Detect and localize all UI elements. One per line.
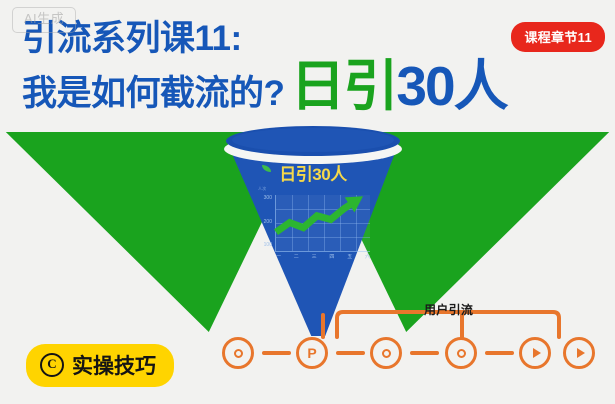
chapter-badge: 课程章节11 bbox=[511, 22, 605, 52]
mini-chart: 人次 300 200 100 一 二 三 四 五 bbox=[256, 188, 378, 274]
flow-node-p[interactable]: P bbox=[296, 337, 328, 369]
target-icon bbox=[382, 349, 391, 358]
flow-node-play-2[interactable] bbox=[563, 337, 595, 369]
headline-highlight-blue: 30人 bbox=[396, 60, 506, 112]
letter-p-icon: P bbox=[307, 346, 316, 360]
headline-highlight-green: 日引 bbox=[290, 60, 396, 112]
growth-arrow-icon bbox=[270, 188, 378, 262]
mini-chart-title: 人次 bbox=[258, 186, 267, 192]
flow-node-target-1[interactable] bbox=[222, 337, 254, 369]
copyright-icon: C bbox=[40, 353, 64, 377]
flow-label: 用户引流 bbox=[424, 301, 473, 318]
headline-line-2: 我是如何截流的? 日引 30人 bbox=[22, 60, 507, 120]
poster-canvas: AI生成 引流系列课11: 我是如何截流的? 日引 30人 课程章节11 日引3… bbox=[0, 0, 615, 404]
play-icon bbox=[577, 348, 585, 358]
flow-node-target-2[interactable] bbox=[370, 337, 402, 369]
funnel-label: 日引30人 bbox=[218, 160, 408, 185]
target-icon bbox=[234, 349, 243, 358]
flow-node-play-1[interactable] bbox=[519, 337, 551, 369]
skill-badge-label: 实操技巧 bbox=[72, 350, 156, 380]
headline-question: 我是如何截流的? bbox=[22, 68, 284, 120]
flow-connector-dash bbox=[336, 351, 365, 355]
headline-line-1: 引流系列课11: bbox=[22, 18, 507, 60]
play-icon bbox=[533, 348, 541, 358]
skill-badge: C 实操技巧 bbox=[26, 344, 174, 387]
flow-connector-dash bbox=[410, 351, 439, 355]
target-icon bbox=[457, 349, 466, 358]
flow-connector-dash bbox=[262, 351, 291, 355]
funnel-top-highlight bbox=[232, 128, 394, 152]
flow-connector-dash bbox=[485, 351, 514, 355]
flow-node-target-3[interactable] bbox=[445, 337, 477, 369]
headline-block: 引流系列课11: 我是如何截流的? 日引 30人 bbox=[22, 18, 507, 120]
